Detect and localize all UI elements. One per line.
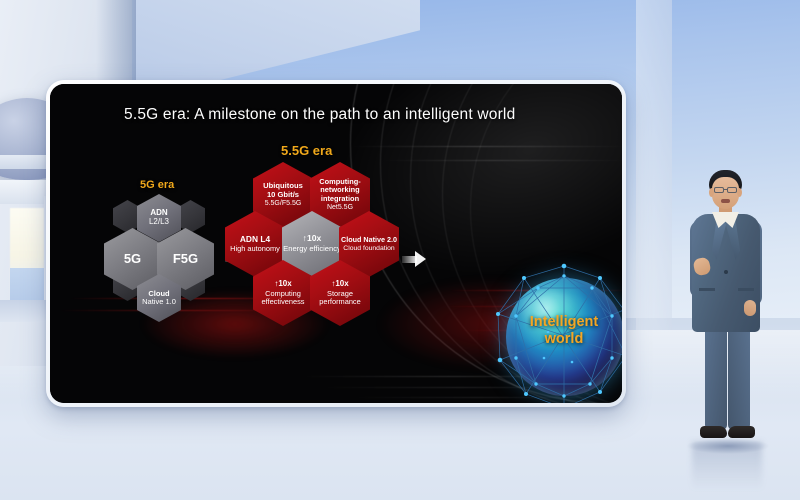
globe-label-line2: world [488,331,622,348]
presenter-right-hand [744,300,756,316]
slide-title: 5.5G era: A milestone on the path to an … [124,106,515,124]
hexagon-title: ↑10x [331,280,348,289]
presenter-pocket-left [699,288,715,291]
hexagon-subtitle: Cloud foundation [343,245,394,253]
intelligent-world-globe: Intelligent world [488,262,622,403]
light-streak [350,146,622,147]
hexagon-subtitle: Native 1.0 [142,298,176,306]
glasses-icon [714,187,724,193]
right-column [636,0,672,330]
hexagon-title: 5G [124,252,141,267]
presenter-reflection [692,442,762,490]
presenter-head [712,177,739,209]
screen-display: 5.5G era: A milestone on the path to an … [50,84,622,403]
hexagon-subtitle: L2/L3 [149,218,169,227]
hexagon-title: Computing- networking integration [319,178,360,203]
presenter-left-shoe [700,426,727,438]
arrow-55g-to-world [402,251,426,268]
era-label-55g: 5.5G era [281,143,332,158]
hexagon-title: ↑10x [274,280,291,289]
presenter-mouth [721,199,730,203]
hexagon-subtitle: Storage performance [319,290,361,307]
presenter-jacket-button [724,270,728,274]
presenter-pocket-right [738,288,754,291]
globe-label-line1: Intelligent [488,314,622,331]
hexagon-subtitle: Energy efficiency [283,245,341,254]
presenter-left-leg [705,318,727,430]
hexagon-subtitle: 5.5G/F5.5G [265,200,302,208]
presenter [672,170,782,452]
light-streak [380,160,622,161]
hexagon-title: Cloud Native 2.0 [341,236,397,244]
hexagon-title: Ubiquitous 10 Gbit/s [263,182,303,199]
era-label-5g: 5G era [140,179,174,191]
hexagon-title: F5G [173,252,198,267]
glasses-bridge [724,189,727,190]
presenter-right-leg [728,318,750,430]
hexagon-title: ADN L4 [240,235,270,244]
glasses-icon [727,187,737,193]
presenter-right-shoe [728,426,755,438]
hexagon-subtitle: Computing effectiveness [261,290,304,307]
hexagon-title: ↑10x [303,234,322,244]
presenter-right-ear [737,188,742,197]
globe-label: Intelligent world [488,314,622,347]
hexagon-subtitle: Net5.5G [327,204,353,212]
presentation-screen: 5.5G era: A milestone on the path to an … [46,80,626,407]
arrow-head [415,251,426,267]
stage-scene: 5.5G era: A milestone on the path to an … [0,0,800,500]
hexagon-subtitle: High autonomy [230,245,280,253]
